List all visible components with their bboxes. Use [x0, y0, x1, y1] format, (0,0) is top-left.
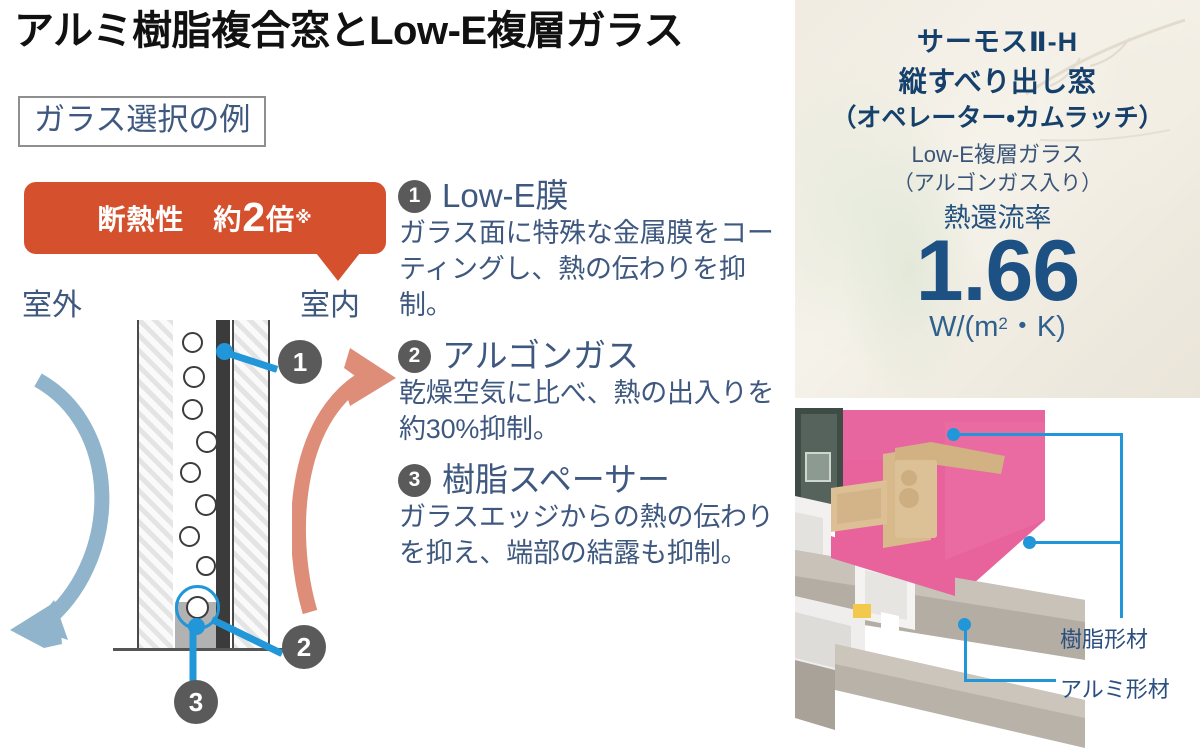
callout-badge-2: 2 [282, 625, 326, 669]
feature-item-2: 2 アルゴンガス 乾燥空気に比べ、熱の出入りを約30%抑制。 [398, 338, 788, 448]
feature-item-3-number: 3 [398, 464, 431, 497]
insulation-banner: 断熱性 約2倍※ [24, 182, 386, 254]
banner-value: 2 [242, 194, 266, 240]
feature-item-2-title: アルゴンガス [442, 338, 639, 374]
label-resin-profile: 樹脂形材 [1060, 622, 1148, 654]
feature-item-1-number: 1 [398, 180, 431, 213]
subtitle-label: ガラス選択の例 [34, 103, 250, 137]
frame-photo-panel: 樹脂形材 アルミ形材 [795, 400, 1200, 750]
metric-unit-post: ・K) [1008, 311, 1066, 343]
label-outdoor: 室外 [22, 280, 82, 324]
metric-unit-exponent: 2 [998, 314, 1007, 333]
insulation-banner-text: 断熱性 約2倍※ [97, 198, 312, 238]
outer-glass-pane [137, 320, 177, 650]
window-frame-cutaway-photo [795, 400, 1085, 750]
feature-item-3-head: 3 樹脂スペーサー [398, 462, 788, 498]
feature-item-2-head: 2 アルゴンガス [398, 338, 788, 374]
inner-glass-pane [232, 320, 270, 650]
callout-resin-line-h2 [1029, 541, 1123, 544]
argon-bubble [180, 462, 201, 483]
argon-bubble [195, 494, 217, 516]
callout-aluminum-line-h [964, 679, 1056, 682]
banner-prefix: 断熱性 約 [97, 204, 242, 235]
callout-aluminum-line-v [964, 623, 967, 681]
label-indoor: 室内 [300, 280, 360, 324]
argon-bubble [182, 332, 203, 353]
glass-cross-section-diagram: 室外 室内 [0, 270, 395, 735]
argon-bubble [179, 526, 200, 547]
glass-note: （アルゴンガス入り） [893, 170, 1102, 197]
feature-item-1-head: 1 Low-E膜 [398, 178, 788, 214]
callout-resin-line-h [953, 433, 1123, 436]
banner-note-mark: ※ [295, 208, 313, 227]
window-subtype: （オペレーター・カムラッチ） [831, 102, 1163, 135]
feature-item-1-title: Low-E膜 [442, 178, 569, 214]
infographic-root: アルミ樹脂複合窓とLow‐E複層ガラス ガラス選択の例 断熱性 約2倍※ 室外 … [0, 0, 1200, 750]
feature-item-3-body: ガラスエッジからの熱の伝わりを抑え、端部の結露も抑制。 [399, 500, 788, 572]
feature-item-1: 1 Low-E膜 ガラス面に特殊な金属膜をコーティングし、熱の伝わりを抑制。 [398, 178, 788, 324]
feature-item-2-body: 乾燥空気に比べ、熱の出入りを約30%抑制。 [399, 376, 788, 448]
feature-item-3-title: 樹脂スペーサー [442, 462, 670, 498]
feature-item-2-number: 2 [398, 340, 431, 373]
cold-airflow-arrow-icon [2, 368, 142, 668]
argon-bubble [183, 366, 205, 388]
label-aluminum-profile: アルミ形材 [1060, 672, 1170, 704]
banner-suffix: 倍 [266, 204, 295, 235]
metric-unit: W/(m2・K) [929, 312, 1066, 344]
subtitle-box: ガラス選択の例 [18, 96, 266, 147]
callout-badge-1: 1 [278, 340, 322, 384]
left-pane: アルミ樹脂複合窓とLow‐E複層ガラス ガラス選択の例 断熱性 約2倍※ 室外 … [0, 0, 795, 750]
product-name: サーモスⅡ-H [917, 25, 1078, 60]
glass-type: Low-E複層ガラス [912, 140, 1084, 170]
feature-list: 1 Low-E膜 ガラス面に特殊な金属膜をコーティングし、熱の伝わりを抑制。 2… [398, 178, 788, 586]
callout-badge-3: 3 [174, 680, 218, 724]
metric-value: 1.66 [916, 232, 1079, 311]
callout-resin-line-v [1120, 433, 1123, 618]
metric-unit-pre: W/(m [929, 311, 998, 343]
window-type: 縦すべり出し窓 [899, 64, 1097, 100]
feature-item-3: 3 樹脂スペーサー ガラスエッジからの熱の伝わりを抑え、端部の結露も抑制。 [398, 462, 788, 572]
product-spec-panel: サーモスⅡ-H 縦すべり出し窓 （オペレーター・カムラッチ） Low-E複層ガラ… [795, 0, 1200, 398]
page-title: アルミ樹脂複合窓とLow‐E複層ガラス [14, 8, 789, 54]
feature-item-1-body: ガラス面に特殊な金属膜をコーティングし、熱の伝わりを抑制。 [399, 216, 788, 324]
argon-bubble [182, 399, 203, 420]
argon-bubble [196, 431, 218, 453]
product-spec-content: サーモスⅡ-H 縦すべり出し窓 （オペレーター・カムラッチ） Low-E複層ガラ… [795, 0, 1200, 398]
argon-bubble [196, 556, 216, 576]
